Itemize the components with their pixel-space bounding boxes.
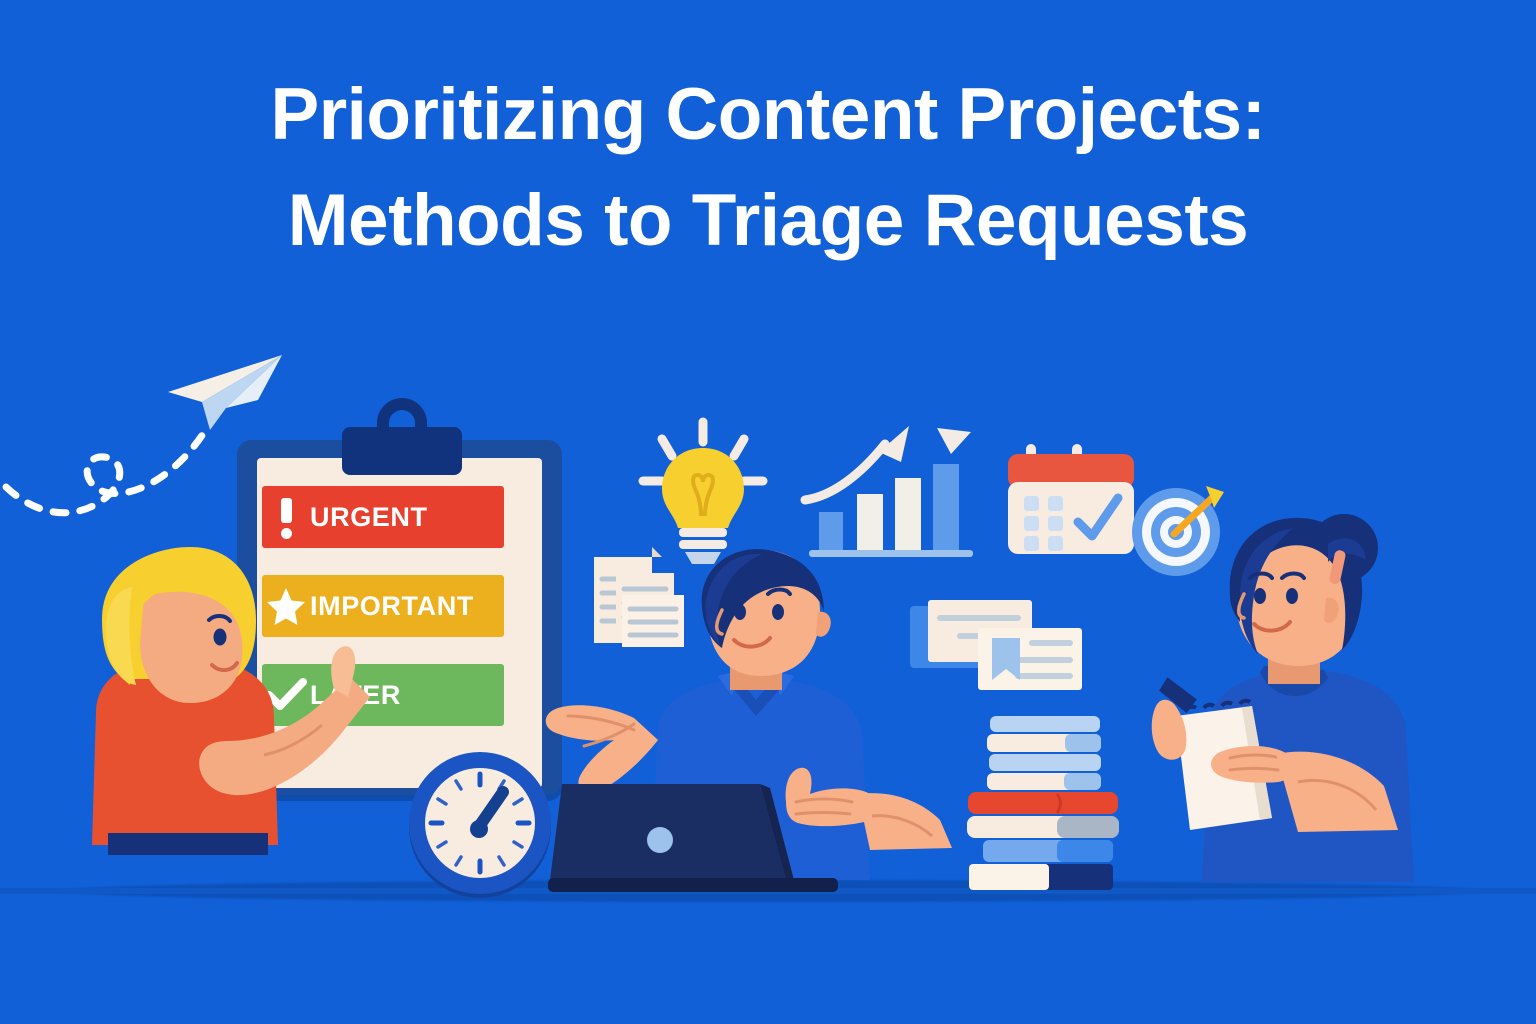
bar-4 — [933, 464, 959, 550]
person-woman-pointing — [78, 545, 378, 895]
bar-3 — [895, 478, 921, 550]
title-line-1: Prioritizing Content Projects: — [0, 62, 1536, 168]
book-stack-icon — [965, 712, 1140, 890]
bar-chart-icon — [805, 418, 985, 568]
page-title: Prioritizing Content Projects: Methods t… — [0, 62, 1536, 274]
bar-1 — [819, 512, 843, 550]
clipboard-clip — [342, 427, 462, 475]
exclamation-icon — [262, 498, 310, 536]
bar-2 — [857, 494, 883, 550]
banner-canvas: Prioritizing Content Projects: Methods t… — [0, 0, 1536, 1024]
wall-clock-icon — [405, 750, 555, 900]
priority-label-urgent: URGENT — [310, 502, 428, 533]
paper-plane-icon — [150, 352, 285, 432]
person-woman-taking-notes — [1148, 500, 1448, 895]
laptop-icon[interactable] — [548, 778, 838, 896]
priority-row-urgent[interactable]: URGENT — [262, 486, 504, 548]
laptop-logo-icon — [647, 827, 673, 853]
title-line-2: Methods to Triage Requests — [0, 168, 1536, 274]
